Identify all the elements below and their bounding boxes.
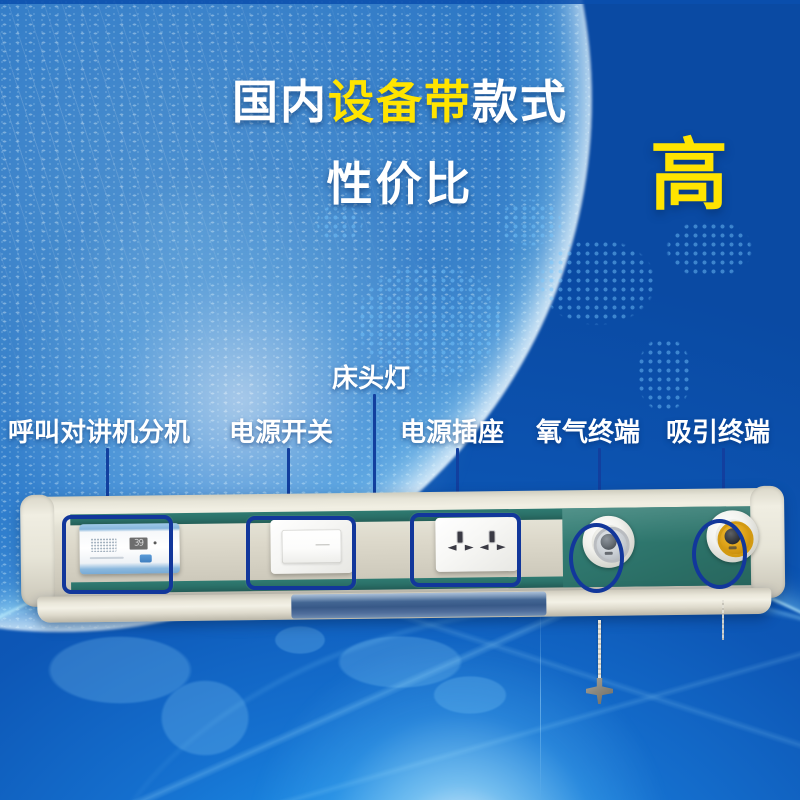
highlight-box-socket	[410, 513, 521, 587]
highlight-circle-suction	[692, 519, 747, 589]
headline-segment-yellow: 设备带	[328, 76, 472, 128]
callout-label-bed-lamp: 床头灯	[332, 358, 410, 395]
headline-line-1: 国内设备带款式	[0, 78, 800, 126]
callout-label-power-socket: 电源插座	[400, 412, 504, 449]
oxygen-hose-cord	[598, 620, 601, 682]
callout-label-power-switch: 电源开关	[229, 412, 333, 449]
highlight-box-switch	[246, 516, 356, 590]
headline-emphasis-word: 高	[650, 136, 728, 214]
highlight-box-intercom	[62, 515, 173, 594]
top-edge-bar	[0, 0, 800, 4]
callout-label-suction-outlet: 吸引终端	[666, 412, 770, 449]
suction-hose-cord	[722, 600, 724, 640]
highlight-circle-oxygen	[569, 523, 624, 593]
panel-end-cap-left	[20, 495, 55, 607]
headline-segment-white-2: 款式	[472, 76, 568, 128]
promo-banner-canvas: 国内设备带款式 性价比 高 呼叫对讲机分机 电源开关 床头灯 电源插座 氧气终端…	[0, 0, 800, 800]
callout-label-intercom: 呼叫对讲机分机	[8, 412, 190, 449]
sunrise-glow	[250, 640, 670, 800]
headline-segment-white-1: 国内	[232, 76, 328, 128]
callout-label-oxygen-outlet: 氧气终端	[536, 412, 640, 449]
